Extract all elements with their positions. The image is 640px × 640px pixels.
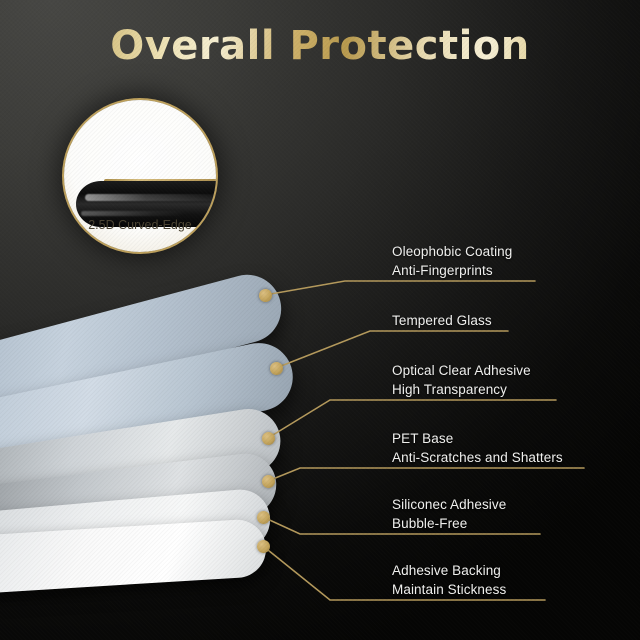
callout-label-2: Tempered Glass bbox=[392, 311, 492, 330]
callout-group: Oleophobic Coating Anti-Fingerprints Tem… bbox=[0, 0, 640, 640]
callout-label-3: Optical Clear Adhesive High Transparency bbox=[392, 361, 531, 399]
callout-label-6-line2: Maintain Stickness bbox=[392, 580, 506, 599]
connector-line-4 bbox=[268, 468, 584, 481]
callout-dot-6[interactable] bbox=[257, 540, 270, 553]
callout-dot-1[interactable] bbox=[259, 289, 272, 302]
callout-label-5-line2: Bubble-Free bbox=[392, 514, 506, 533]
callout-label-1: Oleophobic Coating Anti-Fingerprints bbox=[392, 242, 512, 280]
callout-label-4-line1: PET Base bbox=[392, 431, 453, 446]
callout-dot-4[interactable] bbox=[262, 475, 275, 488]
page-title: Overall Protection bbox=[0, 24, 640, 68]
callout-label-4: PET Base Anti-Scratches and Shatters bbox=[392, 429, 563, 467]
callout-label-1-line2: Anti-Fingerprints bbox=[392, 261, 512, 280]
product-infographic: Oleophobic Coating Anti-Fingerprints Tem… bbox=[0, 0, 640, 640]
callout-label-4-line2: Anti-Scratches and Shatters bbox=[392, 448, 563, 467]
callout-label-6: Adhesive Backing Maintain Stickness bbox=[392, 561, 506, 599]
callout-label-3-line2: High Transparency bbox=[392, 380, 531, 399]
inset-caption: 2.5D Curved-Edge bbox=[64, 218, 216, 232]
connector-lines bbox=[0, 0, 640, 640]
callout-label-5-line1: Siliconec Adhesive bbox=[392, 497, 506, 512]
callout-label-3-line1: Optical Clear Adhesive bbox=[392, 363, 531, 378]
callout-label-2-line1: Tempered Glass bbox=[392, 313, 492, 328]
callout-dot-2[interactable] bbox=[270, 362, 283, 375]
curved-edge-inset: 2.5D Curved-Edge bbox=[64, 100, 216, 252]
connector-line-1 bbox=[265, 281, 535, 295]
callout-label-5: Siliconec Adhesive Bubble-Free bbox=[392, 495, 506, 533]
callout-label-1-line1: Oleophobic Coating bbox=[392, 244, 512, 259]
callout-dot-5[interactable] bbox=[257, 511, 270, 524]
callout-label-6-line1: Adhesive Backing bbox=[392, 563, 501, 578]
callout-dot-3[interactable] bbox=[262, 432, 275, 445]
